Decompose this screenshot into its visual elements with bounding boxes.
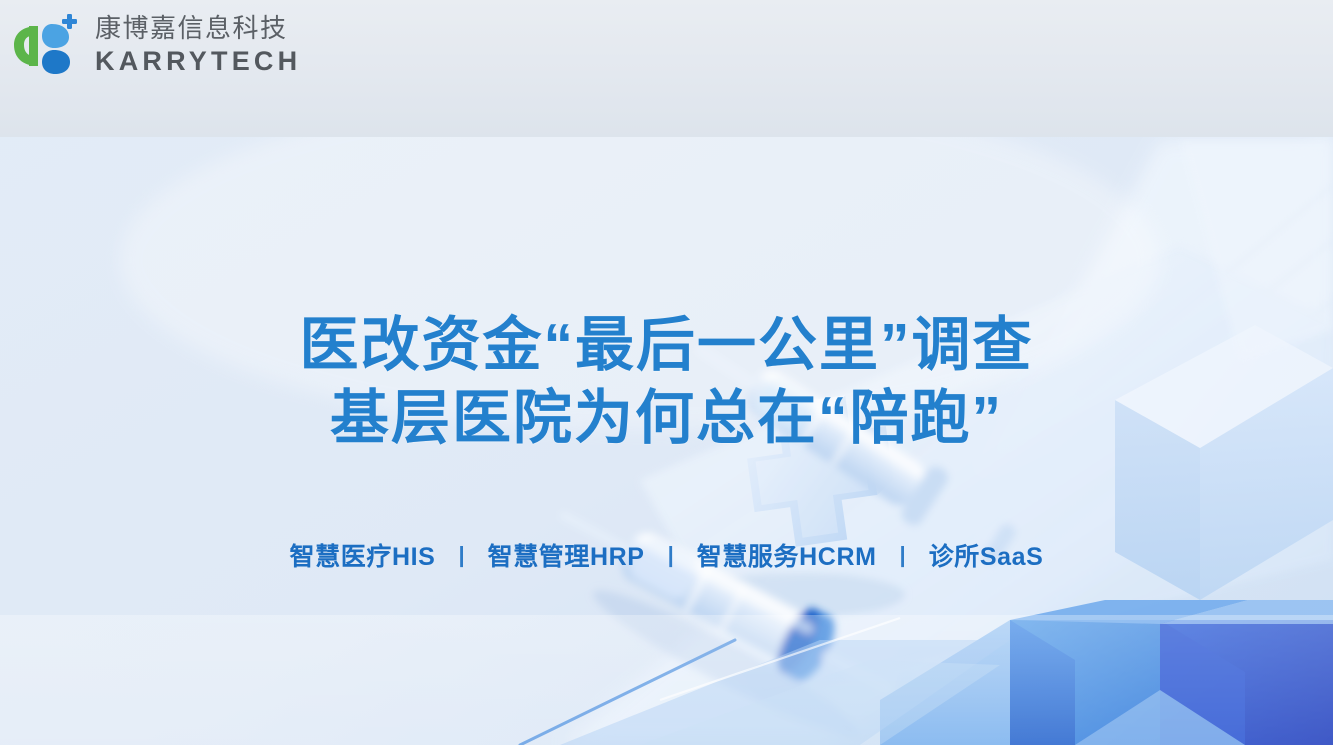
tagline-item-hcrm: 智慧服务HCRM (697, 537, 877, 573)
brand-name-en: KARRYTECH (95, 48, 301, 75)
tagline-item-saas: 诊所SaaS (929, 537, 1044, 573)
tagline-separator-1: | (435, 542, 487, 568)
presentation-slide: 康博嘉信息科技 KARRYTECH 医改资金“最后一公里”调查 基层医院为何总在… (0, 0, 1333, 745)
product-tagline: 智慧医疗HIS | 智慧管理HRP | 智慧服务HCRM | 诊所SaaS (0, 537, 1333, 573)
title-line-1: 医改资金“最后一公里”调查 (0, 309, 1333, 382)
title-line-2: 基层医院为何总在“陪跑” (0, 382, 1333, 455)
tagline-separator-3: | (877, 542, 929, 568)
plus-icon (62, 14, 77, 29)
tagline-item-hrp: 智慧管理HRP (488, 537, 645, 573)
logo-lockup: 康博嘉信息科技 KARRYTECH (8, 12, 301, 78)
karrytech-logo-mark (8, 12, 82, 78)
brand-wordmark: 康博嘉信息科技 KARRYTECH (95, 15, 301, 75)
tagline-separator-2: | (645, 542, 697, 568)
slide-content: 医改资金“最后一公里”调查 基层医院为何总在“陪跑” 智慧医疗HIS | 智慧管… (0, 137, 1333, 745)
slide-title: 医改资金“最后一公里”调查 基层医院为何总在“陪跑” (0, 309, 1333, 455)
tagline-item-his: 智慧医疗HIS (290, 537, 436, 573)
brand-name-cn: 康博嘉信息科技 (95, 15, 301, 41)
brand-header: 康博嘉信息科技 KARRYTECH (0, 0, 1333, 137)
